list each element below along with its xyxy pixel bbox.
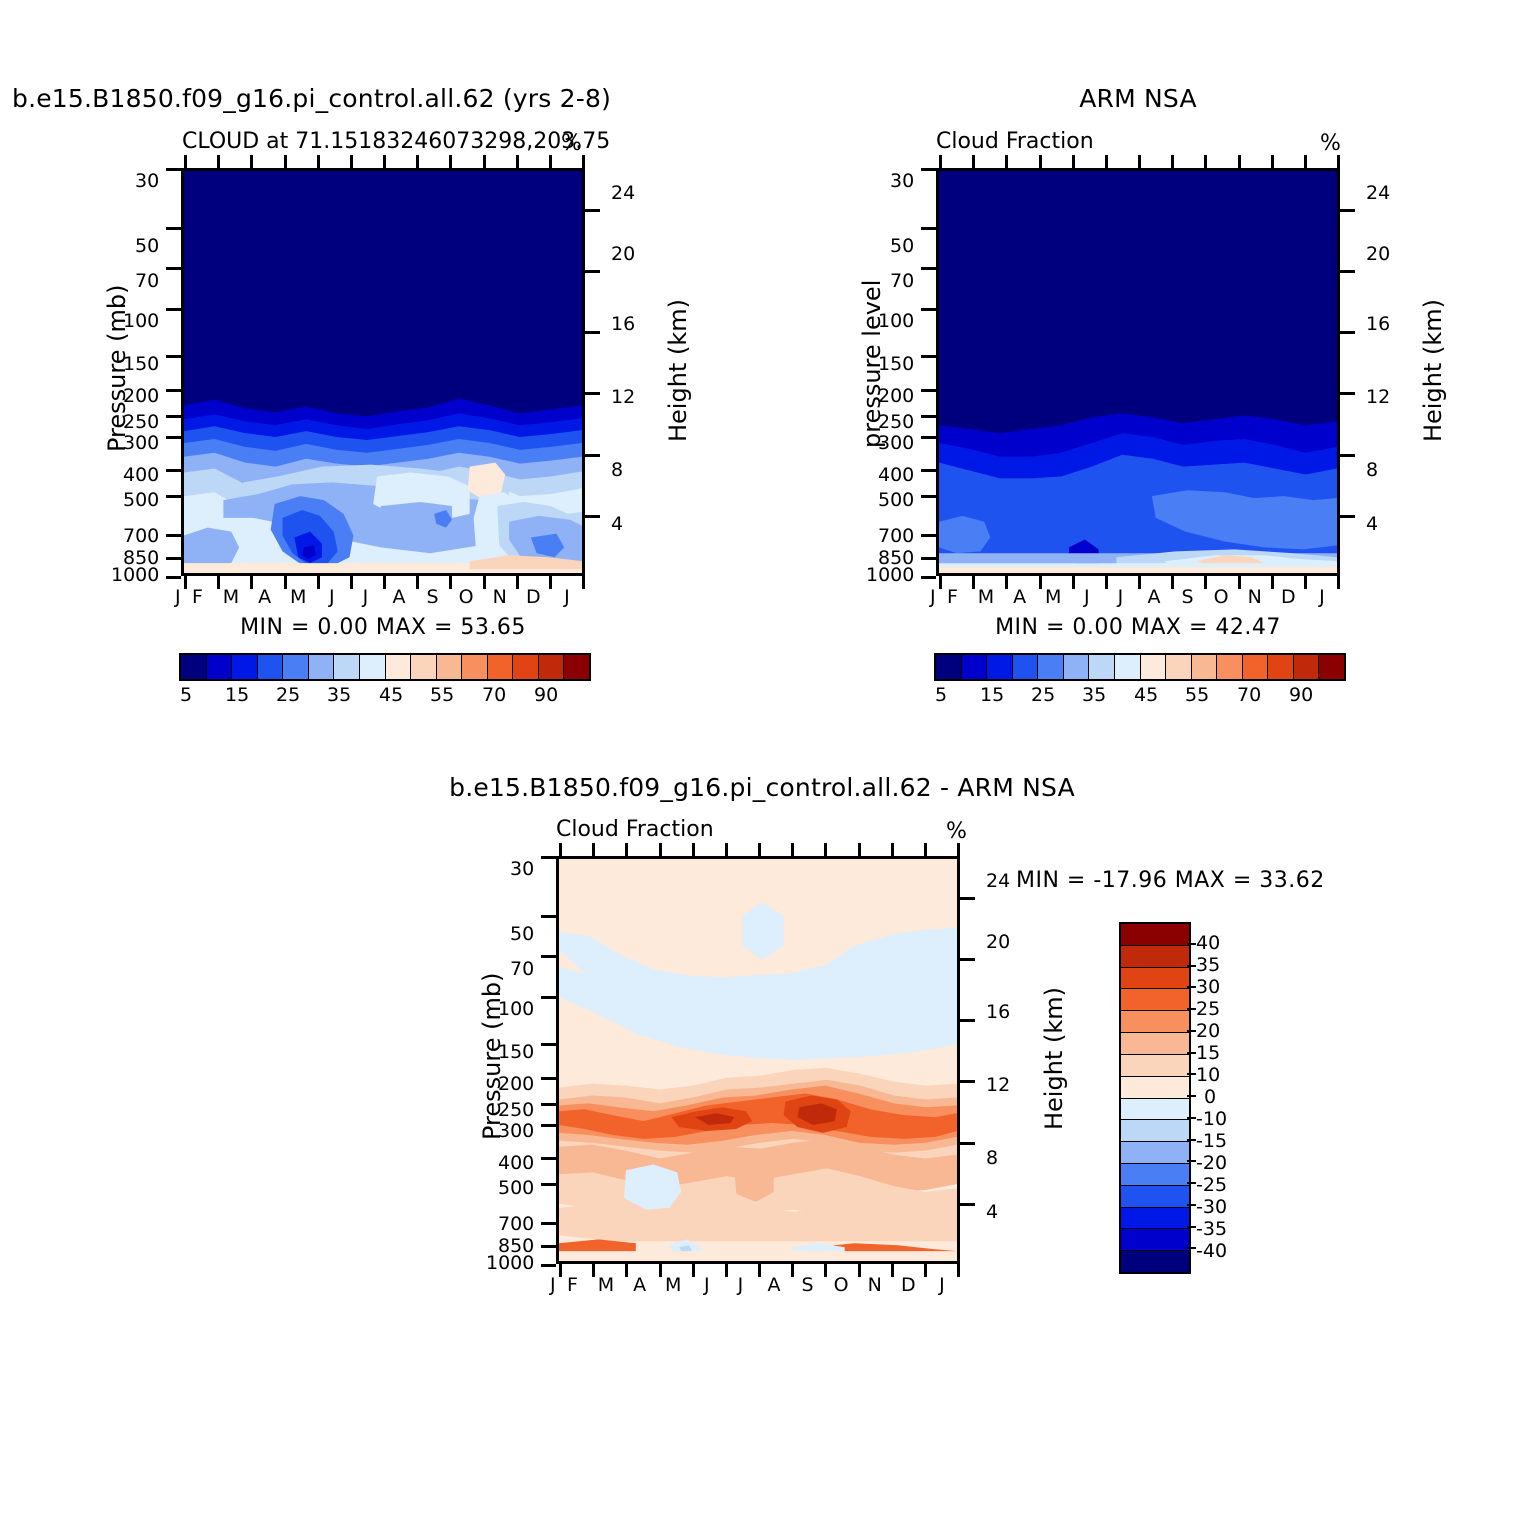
colorbar-swatch [936,655,962,679]
axis-tick [483,155,486,168]
axis-tick [166,168,181,171]
axis-tick [758,843,761,856]
axis-tick [1005,576,1008,589]
tick-p-50: 50 [890,235,914,257]
tick-h-12: 12 [986,1074,1010,1096]
colorbar-swatch [1064,655,1090,679]
colorbar-tick [1187,1247,1196,1249]
colorbar-swatch [462,655,488,679]
axis-tick [1072,576,1075,589]
axis-tick [541,1264,556,1267]
colorbar-swatch [386,655,412,679]
colorbar-swatch [1038,655,1064,679]
colorbar-swatch [1121,1208,1189,1230]
colorbar-swatch [488,655,514,679]
month-label: M [656,1274,690,1296]
tick-p-500: 500 [498,1177,534,1199]
axis-tick [317,576,320,589]
tick-p-250: 250 [123,411,159,433]
colorbar-swatch [1121,1164,1189,1186]
axis-tick [921,534,936,537]
month-label: S [416,586,450,608]
colorbar-swatch [1121,1142,1189,1164]
axis-tick [858,1264,861,1277]
tick-h-8: 8 [1366,459,1378,481]
axis-tick [585,270,600,273]
tick-p-300: 300 [498,1120,534,1142]
model-colorbar [179,653,591,681]
axis-tick [1340,209,1355,212]
month-label: A [248,586,282,608]
diff-minmax-label: MIN = -17.96 MAX = 33.62 [1016,868,1325,893]
colorbar-swatch [1121,1229,1189,1251]
month-label: D [517,586,551,608]
month-label: J [724,1274,758,1296]
axis-tick [1039,155,1042,168]
axis-tick [960,1080,975,1083]
axis-tick [166,267,181,270]
month-label: A [623,1274,657,1296]
axis-tick [1271,576,1274,589]
axis-tick [541,955,556,958]
colorbar-swatch [1141,655,1167,679]
cbar-label: 25 [276,684,300,706]
axis-tick [592,1264,595,1277]
axis-tick [957,1264,960,1277]
axis-tick [625,843,628,856]
cbar-label: 5 [935,684,947,706]
axis-tick [541,1183,556,1186]
colorbar-swatch [1166,655,1192,679]
tick-h-24: 24 [611,182,635,204]
colorbar-tick [1187,1117,1196,1119]
axis-tick [166,495,181,498]
colorbar-tick [1187,1160,1196,1162]
axis-tick [960,1019,975,1022]
tick-p-150: 150 [498,1041,534,1063]
month-label: D [1272,586,1306,608]
tick-h-16: 16 [986,1001,1010,1023]
colorbar-swatch [1121,1055,1189,1077]
colorbar-tick [1187,943,1196,945]
axis-tick [284,576,287,589]
model-month-labels: J F M A M J J A S O N D J [181,586,585,608]
axis-tick [921,308,936,311]
obs-panel-title: ARM NSA [936,84,1340,113]
cbar-label: 30 [1196,976,1220,998]
colorbar-swatch [360,655,386,679]
axis-tick [585,454,600,457]
colorbar-swatch [987,655,1013,679]
tick-p-700: 700 [123,525,159,547]
tick-h-16: 16 [1366,313,1390,335]
month-label: J [1070,586,1104,608]
colorbar-tick [1187,986,1196,988]
axis-tick [824,843,827,856]
month-label: F [556,1274,590,1296]
axis-tick [921,415,936,418]
tick-p-1000: 1000 [866,564,914,586]
axis-tick [921,267,936,270]
axis-tick [166,355,181,358]
cbar-label: 55 [430,684,454,706]
axis-tick [921,355,936,358]
month-label: M [1036,586,1070,608]
colorbar-swatch [1121,924,1189,946]
tick-h-4: 4 [611,513,623,535]
axis-tick [960,1142,975,1145]
colorbar-tick [1187,1073,1196,1075]
month-label: F [181,586,215,608]
axis-tick [1171,576,1174,589]
axis-tick [939,576,942,589]
colorbar-swatch [1121,968,1189,990]
axis-tick [166,415,181,418]
axis-tick [921,227,936,230]
axis-tick [1238,576,1241,589]
axis-tick [1304,576,1307,589]
model-panel-title: b.e15.B1850.f09_g16.pi_control.all.62 (y… [12,84,611,113]
axis-tick [1340,392,1355,395]
obs-ylabel-right: Height (km) [1419,299,1447,442]
axis-tick [166,227,181,230]
cbar-label: 90 [534,684,558,706]
tick-p-250: 250 [498,1099,534,1121]
axis-tick [891,1264,894,1277]
cbar-label: 45 [379,684,403,706]
cbar-label: 35 [1196,954,1220,976]
obs-units-label: % [1320,131,1341,156]
axis-tick [449,155,452,168]
cbar-label: 5 [180,684,192,706]
colorbar-swatch [1121,946,1189,968]
tick-h-12: 12 [1366,386,1390,408]
axis-tick [416,576,419,589]
tick-p-70: 70 [510,958,534,980]
tick-p-500: 500 [878,489,914,511]
axis-tick [166,576,181,579]
cbar-label: 15 [980,684,1004,706]
tick-p-100: 100 [878,310,914,332]
axis-tick [383,155,386,168]
month-label: J [550,586,584,608]
colorbar-tick [1187,1030,1196,1032]
axis-tick [541,996,556,999]
obs-minmax-label: MIN = 0.00 MAX = 42.47 [936,615,1340,640]
tick-p-150: 150 [123,353,159,375]
axis-tick [921,168,936,171]
axis-tick [1304,155,1307,168]
cbar-label: -20 [1196,1152,1227,1174]
tick-h-4: 4 [1366,513,1378,535]
colorbar-swatch [1243,655,1269,679]
month-label: M [589,1274,623,1296]
axis-tick [483,576,486,589]
month-label: A [1003,586,1037,608]
colorbar-swatch [962,655,988,679]
axis-tick [449,576,452,589]
axis-tick [791,843,794,856]
axis-tick [824,1264,827,1277]
colorbar-swatch [181,655,207,679]
axis-tick [1204,576,1207,589]
axis-tick [541,1124,556,1127]
cbar-label: 70 [1237,684,1261,706]
axis-tick [592,843,595,856]
axis-tick [250,576,253,589]
axis-tick [549,576,552,589]
axis-tick [166,308,181,311]
tick-p-70: 70 [135,270,159,292]
axis-tick [559,843,562,856]
axis-tick [891,843,894,856]
colorbar-swatch [564,655,589,679]
axis-tick [516,155,519,168]
axis-tick [416,155,419,168]
axis-tick [541,1103,556,1106]
tick-p-100: 100 [498,998,534,1020]
model-ylabel-right: Height (km) [664,299,692,442]
colorbar-tick [1187,965,1196,967]
month-label: A [1137,586,1171,608]
cbar-label: -35 [1196,1218,1227,1240]
diff-panel-subtitle: Cloud Fraction [556,817,714,842]
month-label: J [349,586,383,608]
axis-tick [541,915,556,918]
axis-tick [541,856,556,859]
tick-p-300: 300 [123,432,159,454]
month-label: O [824,1274,858,1296]
tick-p-400: 400 [878,464,914,486]
axis-tick [166,389,181,392]
model-panel-subtitle: CLOUD at 71.15183246073298,203.75 [182,129,610,154]
month-label: M [281,586,315,608]
colorbar-swatch [1121,1011,1189,1033]
axis-tick [692,843,695,856]
month-label: O [449,586,483,608]
tick-p-30: 30 [890,170,914,192]
obs-colorbar [934,653,1346,681]
tick-h-16: 16 [611,313,635,335]
tick-p-100: 100 [123,310,159,332]
tick-p-700: 700 [498,1213,534,1235]
model-units-label: % [561,131,582,156]
colorbar-tick [1187,1204,1196,1206]
colorbar-swatch [1121,1186,1189,1208]
tick-h-8: 8 [611,459,623,481]
cbar-label: 0 [1204,1086,1216,1108]
axis-tick [217,576,220,589]
axis-tick [659,1264,662,1277]
colorbar-swatch [258,655,284,679]
tick-p-200: 200 [123,385,159,407]
axis-tick [858,843,861,856]
colorbar-tick [1187,1139,1196,1141]
axis-tick [1138,576,1141,589]
colorbar-swatch [1192,655,1218,679]
month-label: A [382,586,416,608]
month-label: J [1305,586,1339,608]
tick-p-200: 200 [878,385,914,407]
diff-colorbar [1119,922,1191,1274]
obs-plot-area [936,168,1340,576]
axis-tick [957,843,960,856]
tick-p-400: 400 [498,1152,534,1174]
axis-tick [541,1245,556,1248]
tick-p-70: 70 [890,270,914,292]
month-label: S [1171,586,1205,608]
axis-tick [383,576,386,589]
colorbar-swatch [1121,1099,1189,1121]
tick-h-8: 8 [986,1147,998,1169]
cbar-label: 25 [1196,998,1220,1020]
colorbar-swatch [437,655,463,679]
axis-tick [166,469,181,472]
colorbar-swatch [513,655,539,679]
axis-tick [960,897,975,900]
cbar-label: 35 [327,684,351,706]
axis-tick [939,155,942,168]
tick-h-20: 20 [611,243,635,265]
colorbar-swatch [1121,1033,1189,1055]
tick-p-1000: 1000 [111,564,159,586]
axis-tick [1337,576,1340,589]
axis-tick [582,155,585,168]
month-label: O [1204,586,1238,608]
cbar-label: 40 [1196,932,1220,954]
cbar-label: -15 [1196,1130,1227,1152]
diff-units-label: % [946,819,967,844]
axis-tick [1105,576,1108,589]
colorbar-swatch [1294,655,1320,679]
month-label: D [892,1274,926,1296]
colorbar-swatch [1217,655,1243,679]
colorbar-swatch [232,655,258,679]
month-label: S [791,1274,825,1296]
tick-p-1000: 1000 [486,1252,534,1274]
colorbar-swatch [283,655,309,679]
model-minmax-label: MIN = 0.00 MAX = 53.65 [181,615,585,640]
tick-p-200: 200 [498,1073,534,1095]
axis-tick [1340,331,1355,334]
colorbar-swatch [1121,989,1189,1011]
tick-p-50: 50 [510,923,534,945]
cbar-label: 45 [1134,684,1158,706]
tick-p-150: 150 [878,353,914,375]
axis-tick [972,576,975,589]
axis-tick [541,1077,556,1080]
axis-tick [921,469,936,472]
colorbar-swatch [207,655,233,679]
cbar-label: -10 [1196,1108,1227,1130]
diff-panel-title: b.e15.B1850.f09_g16.pi_control.all.62 - … [362,773,1162,802]
axis-tick [692,1264,695,1277]
tick-p-400: 400 [123,464,159,486]
model-plot-area [181,168,585,576]
diff-ylabel-right: Height (km) [1040,987,1068,1130]
colorbar-tick [1187,1182,1196,1184]
axis-tick [1271,155,1274,168]
axis-tick [166,557,181,560]
month-label: A [757,1274,791,1296]
axis-tick [585,209,600,212]
axis-tick [559,1264,562,1277]
axis-tick [284,155,287,168]
axis-tick [516,576,519,589]
cbar-label: 35 [1082,684,1106,706]
month-label: J [925,1274,959,1296]
axis-tick [166,534,181,537]
axis-tick [184,576,187,589]
tick-p-500: 500 [123,489,159,511]
cbar-label: -40 [1196,1240,1227,1262]
colorbar-tick [1187,1052,1196,1054]
cbar-label: 70 [482,684,506,706]
month-label: N [1238,586,1272,608]
axis-tick [725,843,728,856]
colorbar-swatch [1089,655,1115,679]
tick-h-20: 20 [986,931,1010,953]
colorbar-swatch [1268,655,1294,679]
month-label: N [483,586,517,608]
obs-panel-subtitle: Cloud Fraction [936,129,1094,154]
axis-tick [1337,155,1340,168]
axis-tick [1340,454,1355,457]
axis-tick [791,1264,794,1277]
axis-tick [960,1203,975,1206]
tick-p-30: 30 [510,858,534,880]
diff-month-labels: J F M A M J J A S O N D J [556,1274,960,1296]
tick-h-24: 24 [1366,182,1390,204]
axis-tick [921,576,936,579]
tick-h-24: 24 [986,870,1010,892]
diff-plot-area [556,856,960,1264]
tick-p-50: 50 [135,235,159,257]
cbar-label: 15 [1196,1042,1220,1064]
axis-tick [350,155,353,168]
axis-tick [350,576,353,589]
tick-p-250: 250 [878,411,914,433]
axis-tick [1204,155,1207,168]
colorbar-swatch [1115,655,1141,679]
axis-tick [541,1222,556,1225]
tick-p-700: 700 [878,525,914,547]
axis-tick [549,155,552,168]
axis-tick [924,1264,927,1277]
axis-tick [921,436,936,439]
axis-tick [1171,155,1174,168]
axis-tick [659,843,662,856]
month-label: J [1104,586,1138,608]
colorbar-swatch [1121,1077,1189,1099]
cbar-label: 25 [1031,684,1055,706]
axis-tick [921,389,936,392]
cbar-label: 10 [1196,1064,1220,1086]
month-label: J [315,586,349,608]
axis-tick [1138,155,1141,168]
colorbar-tick [1187,1008,1196,1010]
cbar-label: 55 [1185,684,1209,706]
axis-tick [1005,155,1008,168]
colorbar-tick [1187,1095,1196,1097]
month-label: F [936,586,970,608]
axis-tick [582,576,585,589]
cbar-label: 90 [1289,684,1313,706]
tick-h-4: 4 [986,1201,998,1223]
axis-tick [758,1264,761,1277]
axis-tick [585,331,600,334]
axis-tick [921,557,936,560]
